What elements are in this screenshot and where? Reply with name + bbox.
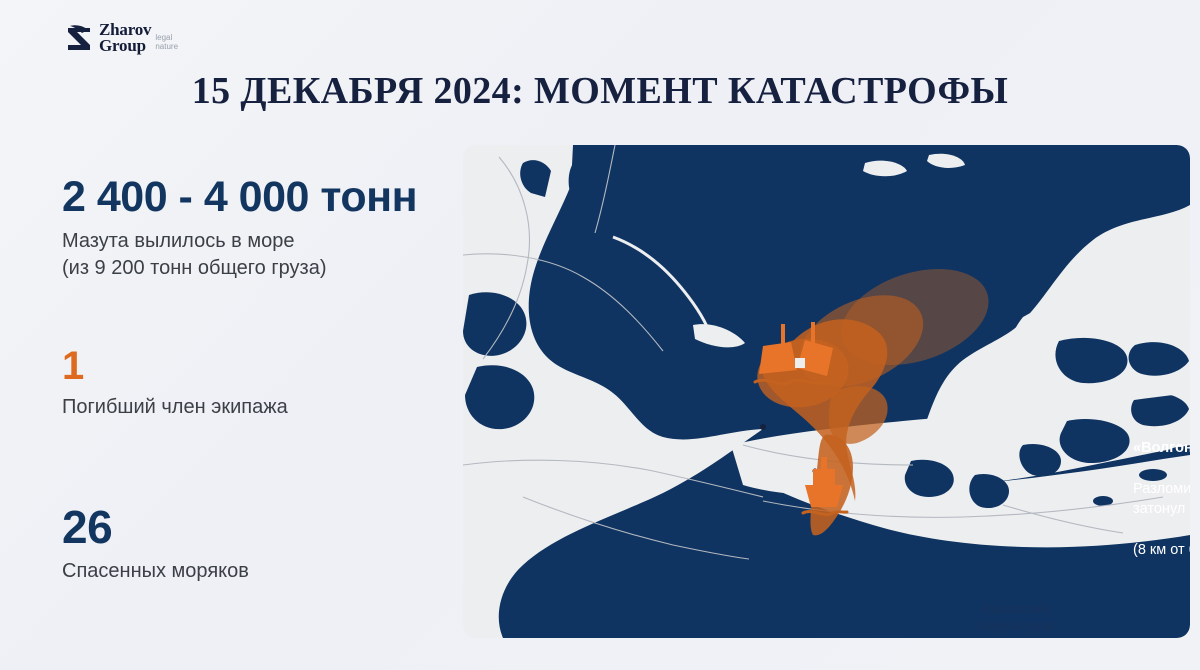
stat-description: Мазута вылилось в море (из 9 200 тонн об… (62, 228, 417, 282)
map-label-vessel-212: «Волгонефть-212»: Разломился и затонул (… (1133, 417, 1190, 561)
vessel-212-line2: Разломился и затонул (1133, 481, 1190, 518)
stat-value: 26 (62, 502, 249, 552)
map-graphic (463, 145, 1190, 638)
stat-casualties: 1 Погибший член экипажа (62, 344, 288, 421)
brand-logo: Zharov Group legal nature (66, 22, 178, 53)
stat-rescued: 26 Спасенных моряков (62, 502, 249, 585)
stat-value: 1 (62, 344, 288, 388)
vessel-212-line3: (8 км от берега) (1133, 542, 1190, 558)
brand-tagline-line2: nature (155, 42, 178, 51)
brand-name-line2: Group (99, 36, 146, 55)
vessel-212-title: «Волгонефть-212»: (1133, 438, 1190, 459)
z-logo-icon (66, 23, 92, 53)
incident-map[interactable]: «Волгонефть-212»: Разломился и затонул (… (463, 145, 1190, 638)
page-title: 15 ДЕКАБРЯ 2024: МОМЕНТ КАТАСТРОФЫ (0, 69, 1200, 113)
stat-value: 2 400 - 4 000 тонн (62, 172, 417, 222)
map-dot-1 (760, 424, 766, 430)
brand-wordmark: Zharov Group legal nature (99, 22, 178, 53)
map-label-crimea: Крымский полуостров (961, 600, 1071, 634)
stat-description: Спасенных моряков (62, 558, 249, 585)
stat-oil-spilled: 2 400 - 4 000 тонн Мазута вылилось в мор… (62, 172, 417, 282)
stat-description: Погибший член экипажа (62, 394, 288, 421)
